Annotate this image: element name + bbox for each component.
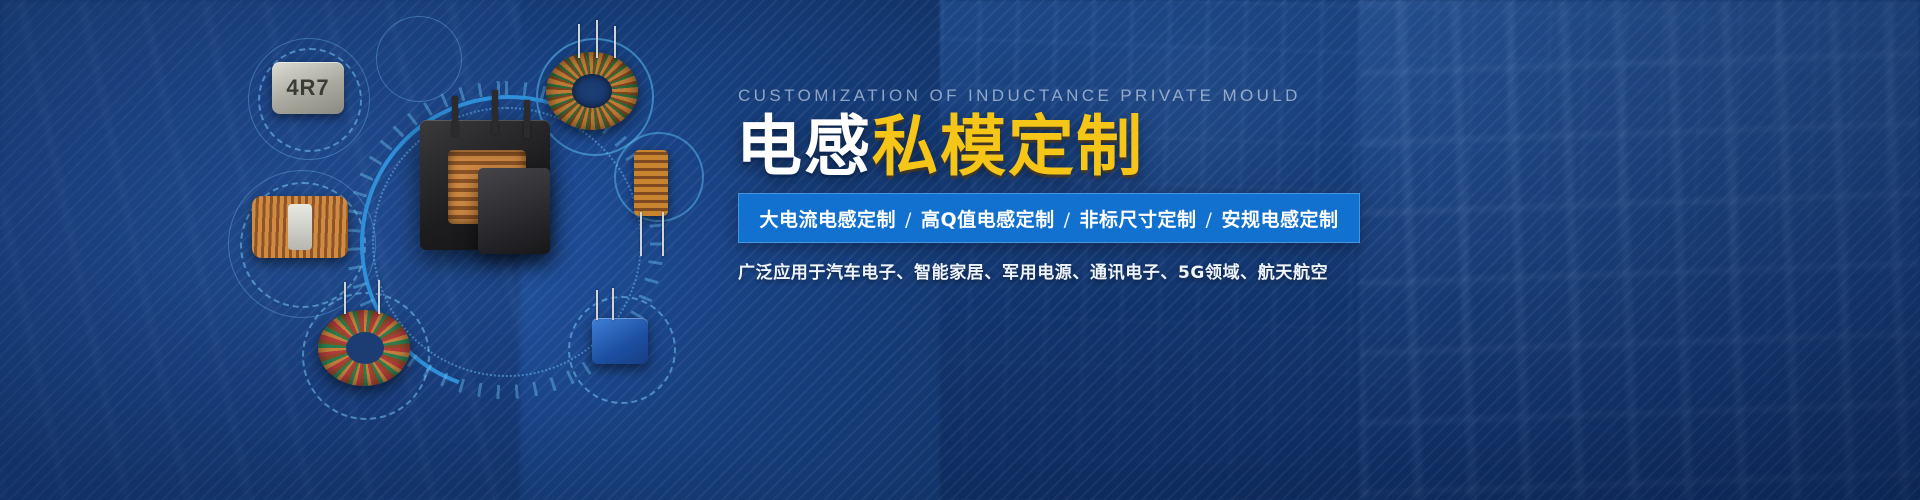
applications-text: 广泛应用于汽车电子、智能家居、军用电源、通讯电子、5G领域、航天航空 xyxy=(738,258,1328,283)
feature-item-0: 大电流电感定制 xyxy=(760,209,897,231)
feature-item-1: 高Q值电感定制 xyxy=(921,209,1055,231)
feature-separator: / xyxy=(896,209,921,231)
tech-tick-ring-icon xyxy=(345,80,665,400)
component-terminal xyxy=(452,96,458,136)
banner-headline: 电感私模定制 xyxy=(736,112,1144,181)
component-lead xyxy=(662,212,664,256)
banner-eyebrow-text: CUSTOMIZATION OF INDUCTANCE PRIVATE MOUL… xyxy=(738,86,1301,106)
component-terminal xyxy=(492,90,498,134)
feature-item-3: 安规电感定制 xyxy=(1221,209,1338,231)
feature-bar[interactable]: 大电流电感定制/高Q值电感定制/非标尺寸定制/安规电感定制 xyxy=(738,193,1360,243)
feature-item-2: 非标尺寸定制 xyxy=(1080,209,1197,231)
component-lead xyxy=(614,26,616,58)
banner-text-block: CUSTOMIZATION OF INDUCTANCE PRIVATE MOUL… xyxy=(736,0,1886,500)
feature-separator: / xyxy=(1197,209,1222,231)
feature-bar-items: 大电流电感定制/高Q值电感定制/非标尺寸定制/安规电感定制 xyxy=(760,205,1339,232)
component-lead xyxy=(640,212,642,256)
promo-banner: 4R7 CUSTOMIZATION OF INDUCTANCE PRIVATE … xyxy=(0,0,1920,500)
feature-separator: / xyxy=(1055,209,1080,231)
component-lead xyxy=(344,282,346,314)
component-lead xyxy=(378,280,380,314)
component-lead xyxy=(596,20,598,58)
headline-white-part: 电感 xyxy=(736,108,872,185)
component-lead xyxy=(578,24,580,58)
component-lead xyxy=(612,288,614,320)
component-lead xyxy=(596,290,598,320)
headline-gold-part: 私模定制 xyxy=(872,108,1144,185)
component-terminal xyxy=(524,100,530,138)
